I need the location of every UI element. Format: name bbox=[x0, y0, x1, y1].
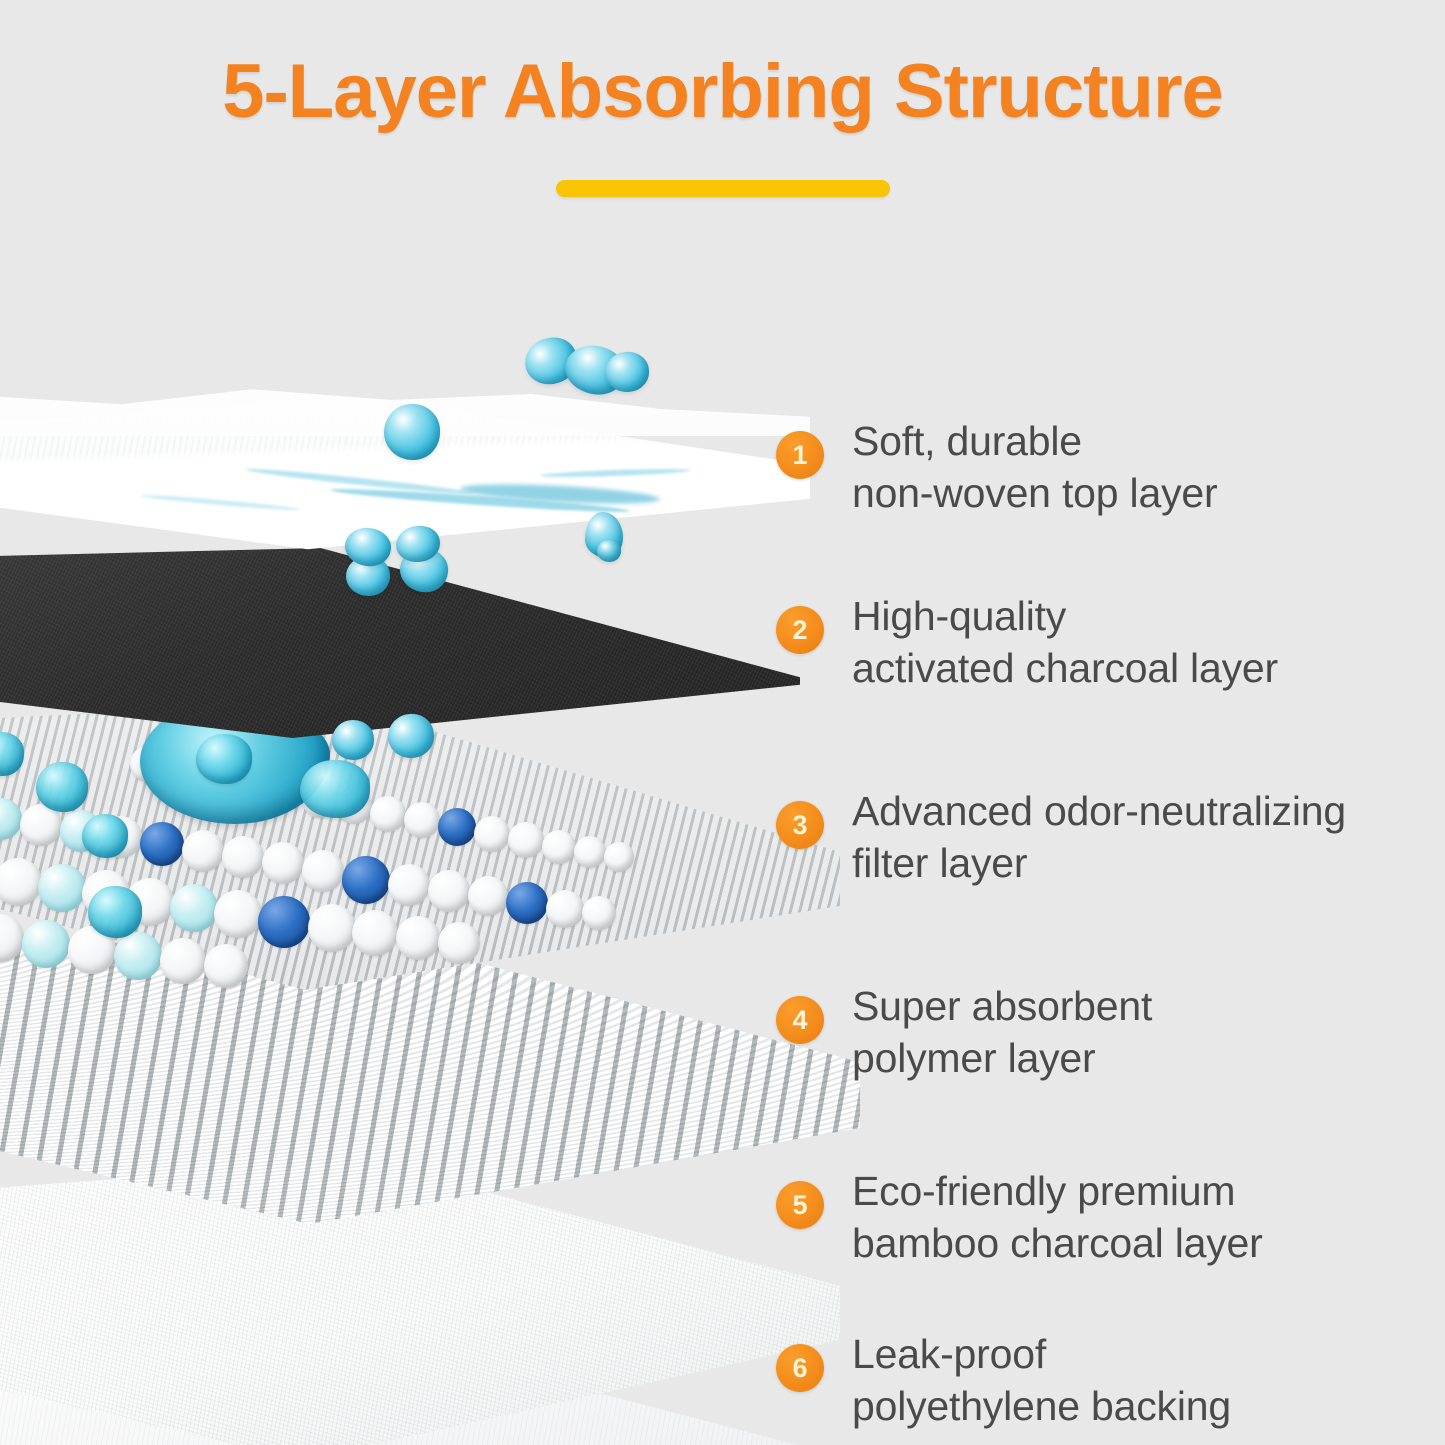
callout-label-5: Eco-friendly premium bamboo charcoal lay… bbox=[852, 1165, 1263, 1270]
callout-item-2: 2 High-quality activated charcoal layer bbox=[776, 606, 1278, 695]
callout-badge-1: 1 bbox=[776, 431, 824, 479]
callout-label-3: Advanced odor-neutralizing filter layer bbox=[852, 785, 1346, 890]
callout-badge-4: 4 bbox=[776, 996, 824, 1044]
callout-item-5: 5 Eco-friendly premium bamboo charcoal l… bbox=[776, 1181, 1263, 1270]
callout-badge-6: 6 bbox=[776, 1344, 824, 1392]
callout-list: 1 Soft, durable non-woven top layer 2 Hi… bbox=[0, 0, 1445, 1445]
callout-item-4: 4 Super absorbent polymer layer bbox=[776, 996, 1152, 1085]
callout-item-6: 6 Leak-proof polyethylene backing bbox=[776, 1344, 1231, 1433]
callout-label-1: Soft, durable non-woven top layer bbox=[852, 415, 1217, 520]
callout-label-6: Leak-proof polyethylene backing bbox=[852, 1328, 1231, 1433]
callout-badge-2: 2 bbox=[776, 606, 824, 654]
callout-item-3: 3 Advanced odor-neutralizing filter laye… bbox=[776, 801, 1346, 890]
callout-label-4: Super absorbent polymer layer bbox=[852, 980, 1152, 1085]
callout-badge-5: 5 bbox=[776, 1181, 824, 1229]
callout-label-2: High-quality activated charcoal layer bbox=[852, 590, 1278, 695]
callout-item-1: 1 Soft, durable non-woven top layer bbox=[776, 431, 1217, 520]
callout-badge-3: 3 bbox=[776, 801, 824, 849]
infographic-page: 5-Layer Absorbing Structure bbox=[0, 0, 1445, 1445]
